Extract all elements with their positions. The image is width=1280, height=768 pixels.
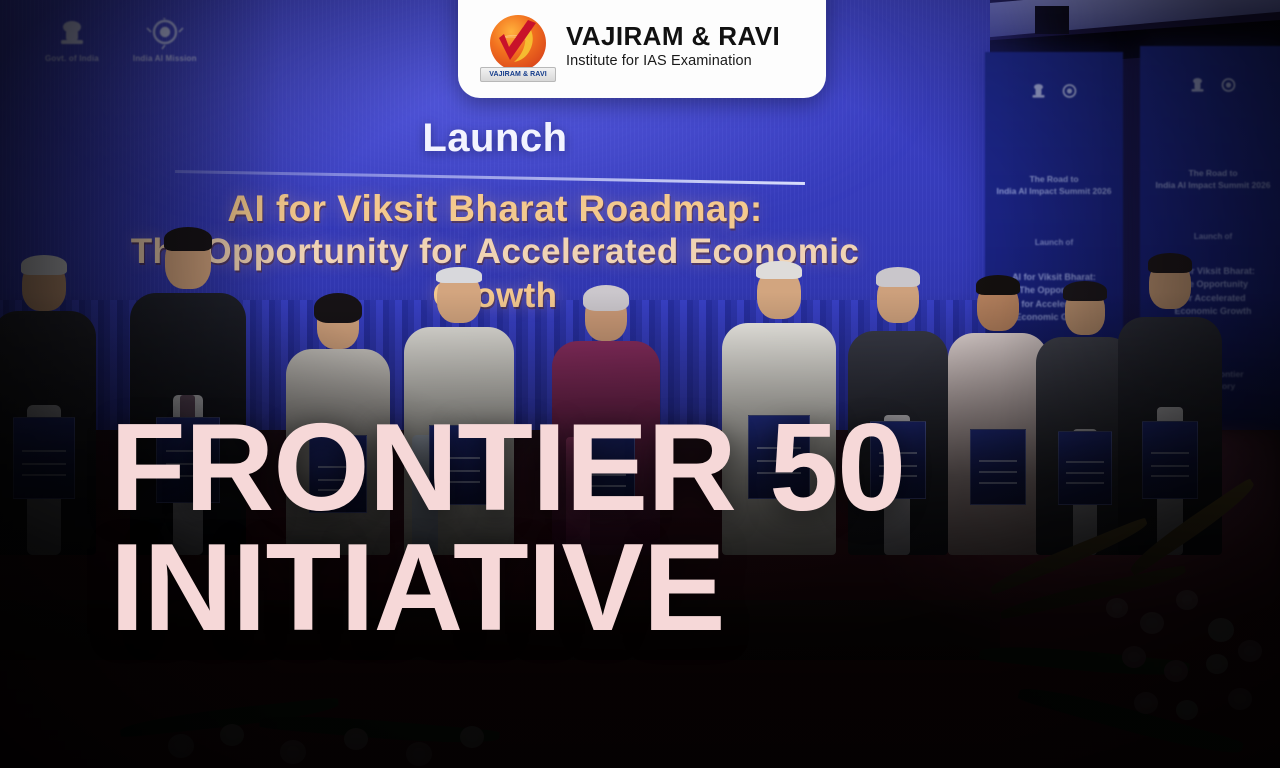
dignitary — [848, 273, 948, 555]
ashoka-emblem-icon — [1030, 82, 1047, 101]
standee-heading: The Road toIndia AI Impact Summit 2026 — [1140, 167, 1280, 192]
vajiram-ravi-logo-icon: VAJIRAM & RAVI — [484, 12, 552, 80]
emblem-india-ai: India AI Mission — [133, 18, 197, 63]
screen-emblems: Govt. of India India AI Mission — [45, 18, 197, 63]
emblem-govt-of-india: Govt. of India — [45, 18, 99, 63]
dignitary — [0, 255, 96, 555]
event-photograph: Govt. of India India AI Mission Launch A… — [0, 0, 1280, 768]
stage-riser — [0, 600, 1000, 660]
india-ai-emblem-icon — [1061, 82, 1078, 101]
standee-logos — [1140, 76, 1280, 95]
floral-arrangement-bottom — [120, 690, 540, 768]
india-ai-emblem-icon — [146, 18, 184, 52]
dignitary — [948, 277, 1048, 555]
standee-heading: The Road toIndia AI Impact Summit 2026 — [985, 173, 1123, 198]
brand-text: VAJIRAM & RAVI Institute for IAS Examina… — [566, 23, 780, 69]
screen-divider — [175, 170, 805, 185]
ashoka-emblem-icon — [53, 18, 91, 52]
emblem-caption: India AI Mission — [133, 54, 197, 63]
brand-tagline: Institute for IAS Examination — [566, 53, 780, 69]
screen-kicker: Launch — [0, 116, 990, 161]
logo-ribbon: VAJIRAM & RAVI — [480, 67, 556, 82]
dignitary — [404, 269, 514, 555]
brand-logo-card[interactable]: VAJIRAM & RAVI VAJIRAM & RAVI Institute … — [458, 0, 826, 98]
dignitary — [286, 291, 390, 555]
floral-arrangement-right — [980, 520, 1280, 760]
ashoka-emblem-icon — [1189, 76, 1206, 95]
dignitary — [552, 285, 660, 555]
brand-name: VAJIRAM & RAVI — [566, 23, 780, 50]
screen-event-line-1: AI for Viksit Bharat Roadmap: — [0, 188, 990, 230]
promo-image: Govt. of India India AI Mission Launch A… — [0, 0, 1280, 768]
dignitary — [130, 235, 246, 555]
emblem-caption: Govt. of India — [45, 54, 99, 63]
dignitaries-row — [0, 225, 1280, 555]
dignitary — [722, 265, 836, 555]
projector-icon — [1035, 6, 1069, 34]
india-ai-emblem-icon — [1220, 76, 1237, 95]
standee-logos — [985, 82, 1123, 101]
